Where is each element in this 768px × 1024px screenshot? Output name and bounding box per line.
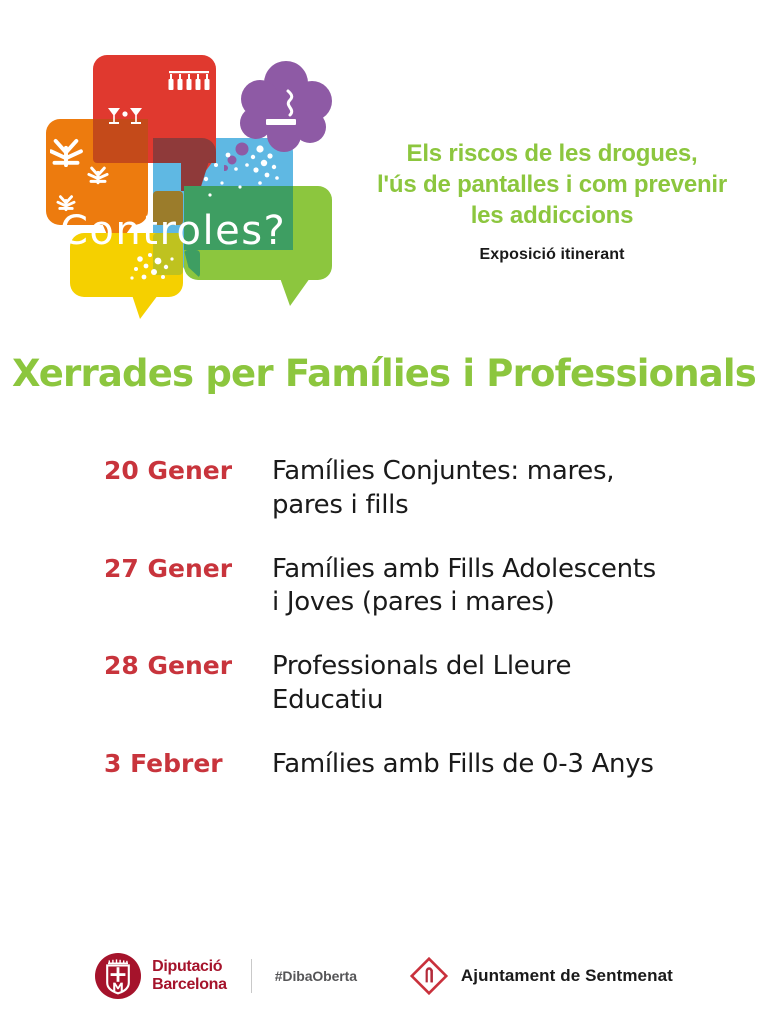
schedule-title: Famílies amb Fills de 0-3 Anys	[272, 748, 714, 782]
schedule-row: 27 Gener Famílies amb Fills Adolescents …	[104, 553, 714, 621]
controles-logo-artwork: Controles?	[46, 55, 346, 280]
schedule-row: 3 Febrer Famílies amb Fills de 0-3 Anys	[104, 748, 714, 782]
sentmenat-diamond-icon	[407, 954, 451, 998]
diputacio-line-2: Barcelona	[152, 976, 227, 994]
diputacio-seal-icon	[95, 953, 141, 999]
diputacio-wordmark: Diputació Barcelona	[152, 958, 227, 994]
schedule-date: 28 Gener	[104, 650, 272, 682]
schedule-row: 28 Gener Professionals del Lleure Educat…	[104, 650, 714, 718]
schedule-date: 3 Febrer	[104, 748, 272, 780]
poster-header: Controles? Els riscos de les drogues, l'…	[0, 0, 768, 300]
diputacio-barcelona-logo: Diputació Barcelona #DibaOberta	[95, 953, 357, 999]
schedule-title: Professionals del Lleure Educatiu	[272, 650, 714, 718]
claim-line-2: l'ús de pantalles i com prevenir	[377, 171, 727, 198]
schedule-title-line: pares i fills	[272, 489, 714, 523]
schedule-date: 27 Gener	[104, 553, 272, 585]
ajuntament-wordmark: Ajuntament de Sentmenat	[461, 966, 673, 986]
schedule-title-line: Professionals del Lleure	[272, 650, 714, 684]
schedule-title: Famílies Conjuntes: mares, pares i fills	[272, 455, 714, 523]
campaign-subtitle: Exposició itinerant	[352, 246, 752, 264]
campaign-claim: Els riscos de les drogues, l'ús de panta…	[352, 138, 752, 232]
bubble-tail	[132, 295, 158, 319]
diputacio-line-1: Diputació	[152, 958, 227, 976]
header-text-block: Els riscos de les drogues, l'ús de panta…	[352, 138, 752, 264]
diba-hashtag: #DibaOberta	[275, 968, 357, 984]
schedule-list: 20 Gener Famílies Conjuntes: mares, pare…	[104, 455, 714, 782]
footer-logos: Diputació Barcelona #DibaOberta Ajuntame…	[0, 944, 768, 1008]
page-title: Xerrades per Famílies i Professionals	[0, 352, 768, 395]
red-speech-bubble	[93, 55, 216, 163]
schedule-title: Famílies amb Fills Adolescents i Joves (…	[272, 553, 714, 621]
schedule-date: 20 Gener	[104, 455, 272, 487]
logo-divider	[251, 959, 252, 993]
schedule-title-line: Famílies amb Fills de 0-3 Anys	[272, 748, 714, 782]
claim-line-1: Els riscos de les drogues,	[407, 140, 698, 167]
schedule-title-line: i Joves (pares i mares)	[272, 586, 714, 620]
claim-line-3: les addiccions	[471, 202, 634, 229]
schedule-title-line: Famílies amb Fills Adolescents	[272, 553, 714, 587]
schedule-title-line: Famílies Conjuntes: mares,	[272, 455, 714, 489]
schedule-title-line: Educatiu	[272, 684, 714, 718]
ajuntament-sentmenat-logo: Ajuntament de Sentmenat	[407, 954, 673, 998]
controles-wordmark: Controles?	[60, 211, 286, 251]
poster-root: Controles? Els riscos de les drogues, l'…	[0, 0, 768, 1024]
bubble-tail	[280, 278, 310, 306]
schedule-row: 20 Gener Famílies Conjuntes: mares, pare…	[104, 455, 714, 523]
